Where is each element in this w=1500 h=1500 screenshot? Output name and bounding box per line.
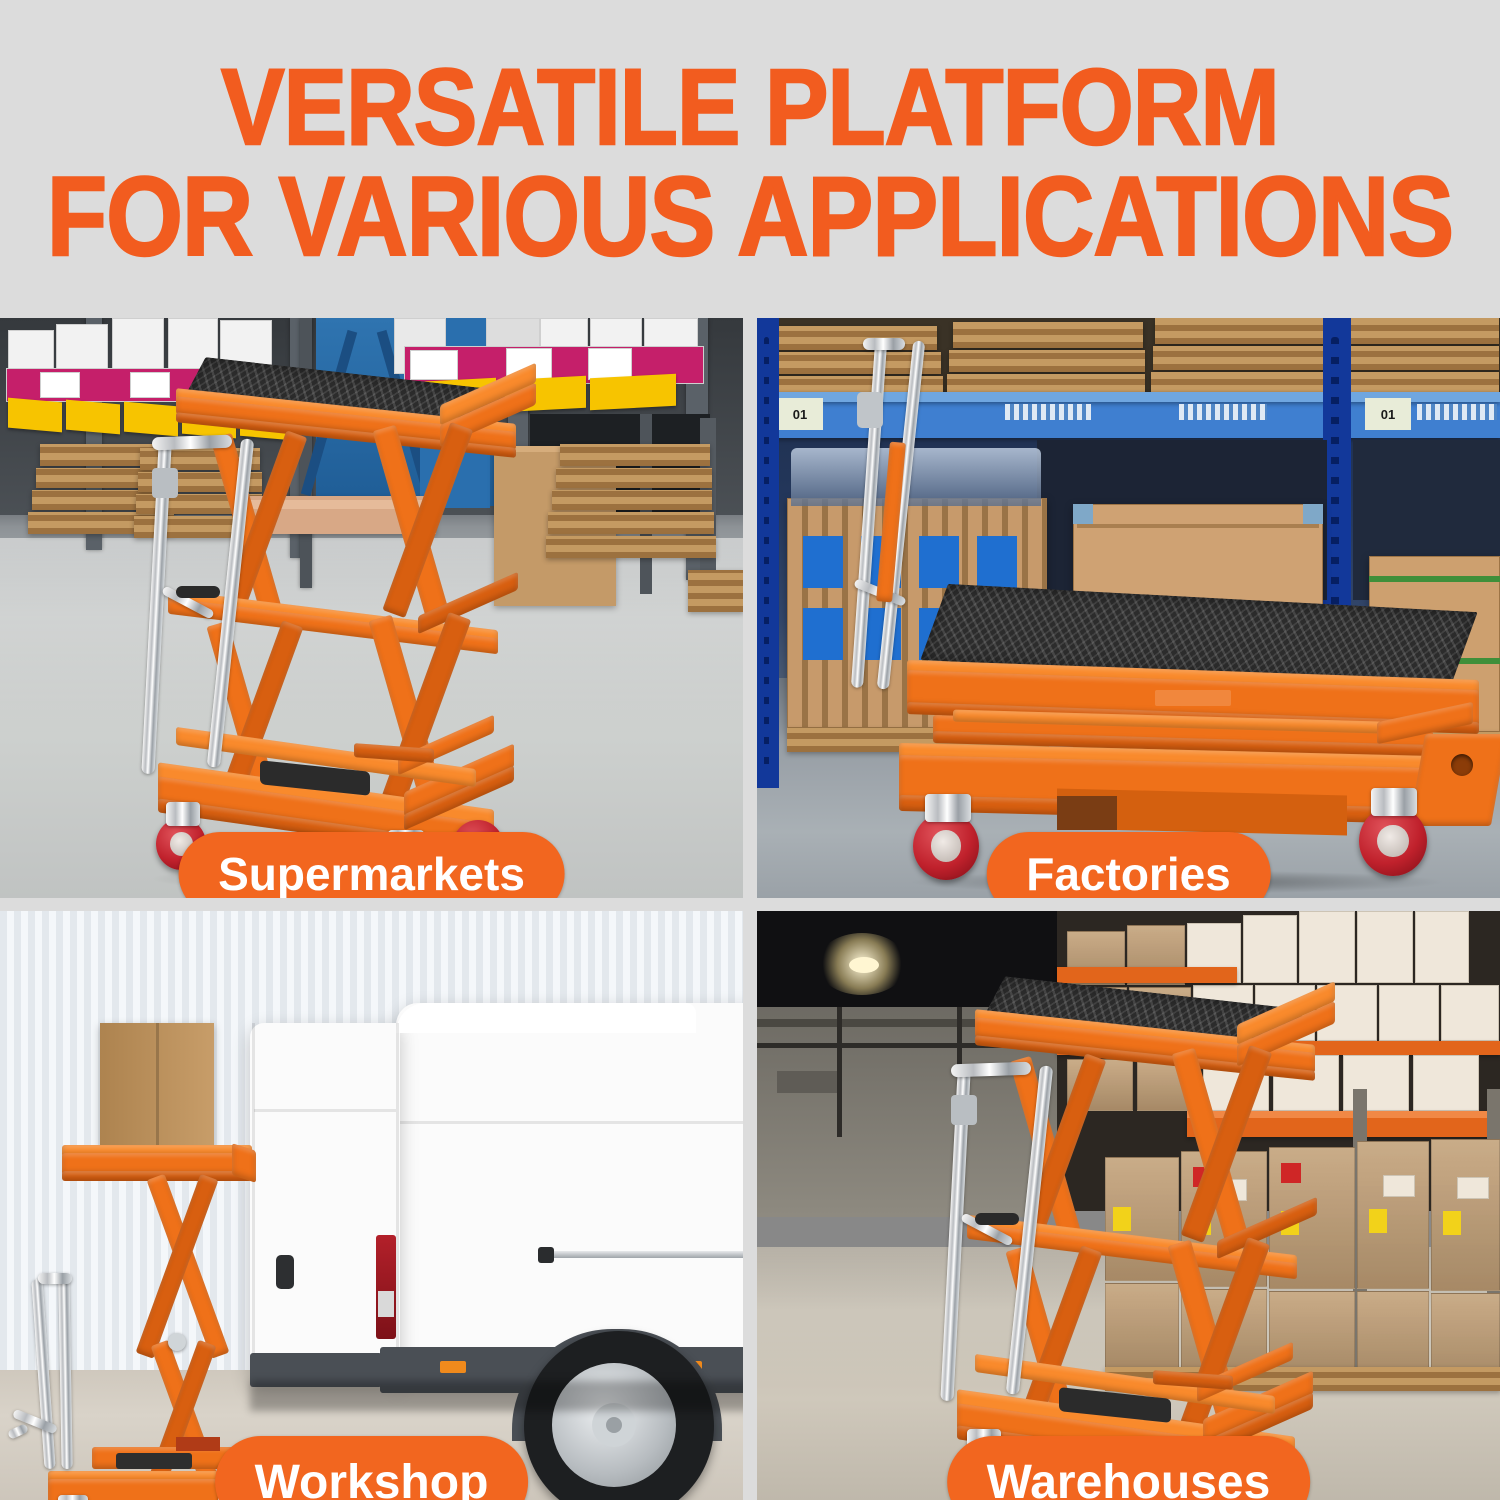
scene-supermarket (0, 318, 743, 898)
panel-label-supermarkets: Supermarkets (178, 832, 565, 898)
rack-label-01-left: 01 (777, 398, 823, 430)
rack-label-01-right: 01 (1365, 398, 1411, 430)
panel-label-warehouses: Warehouses (947, 1436, 1311, 1500)
scene-workshop (0, 911, 743, 1500)
scene-warehouse (757, 911, 1500, 1500)
gallery-panel-supermarkets[interactable]: Supermarkets (0, 318, 743, 898)
caster-wheel (913, 812, 979, 880)
page-title-line-1: VERSATILE PLATFORM (221, 55, 1279, 159)
panel-label-workshop: Workshop (215, 1436, 529, 1500)
page-title-line-2: FOR VARIOUS APPLICATIONS (47, 163, 1453, 271)
application-gallery-grid: Supermarkets 01 01 (0, 318, 1500, 1500)
gallery-panel-workshop[interactable]: Workshop (0, 911, 743, 1500)
gallery-panel-factories[interactable]: 01 01 (757, 318, 1500, 898)
scene-factory: 01 01 (757, 318, 1500, 898)
cargo-van (396, 1003, 743, 1383)
header-banner: VERSATILE PLATFORM FOR VARIOUS APPLICATI… (0, 0, 1500, 318)
panel-label-factories: Factories (986, 832, 1271, 898)
gallery-panel-warehouses[interactable]: Warehouses (757, 911, 1500, 1500)
